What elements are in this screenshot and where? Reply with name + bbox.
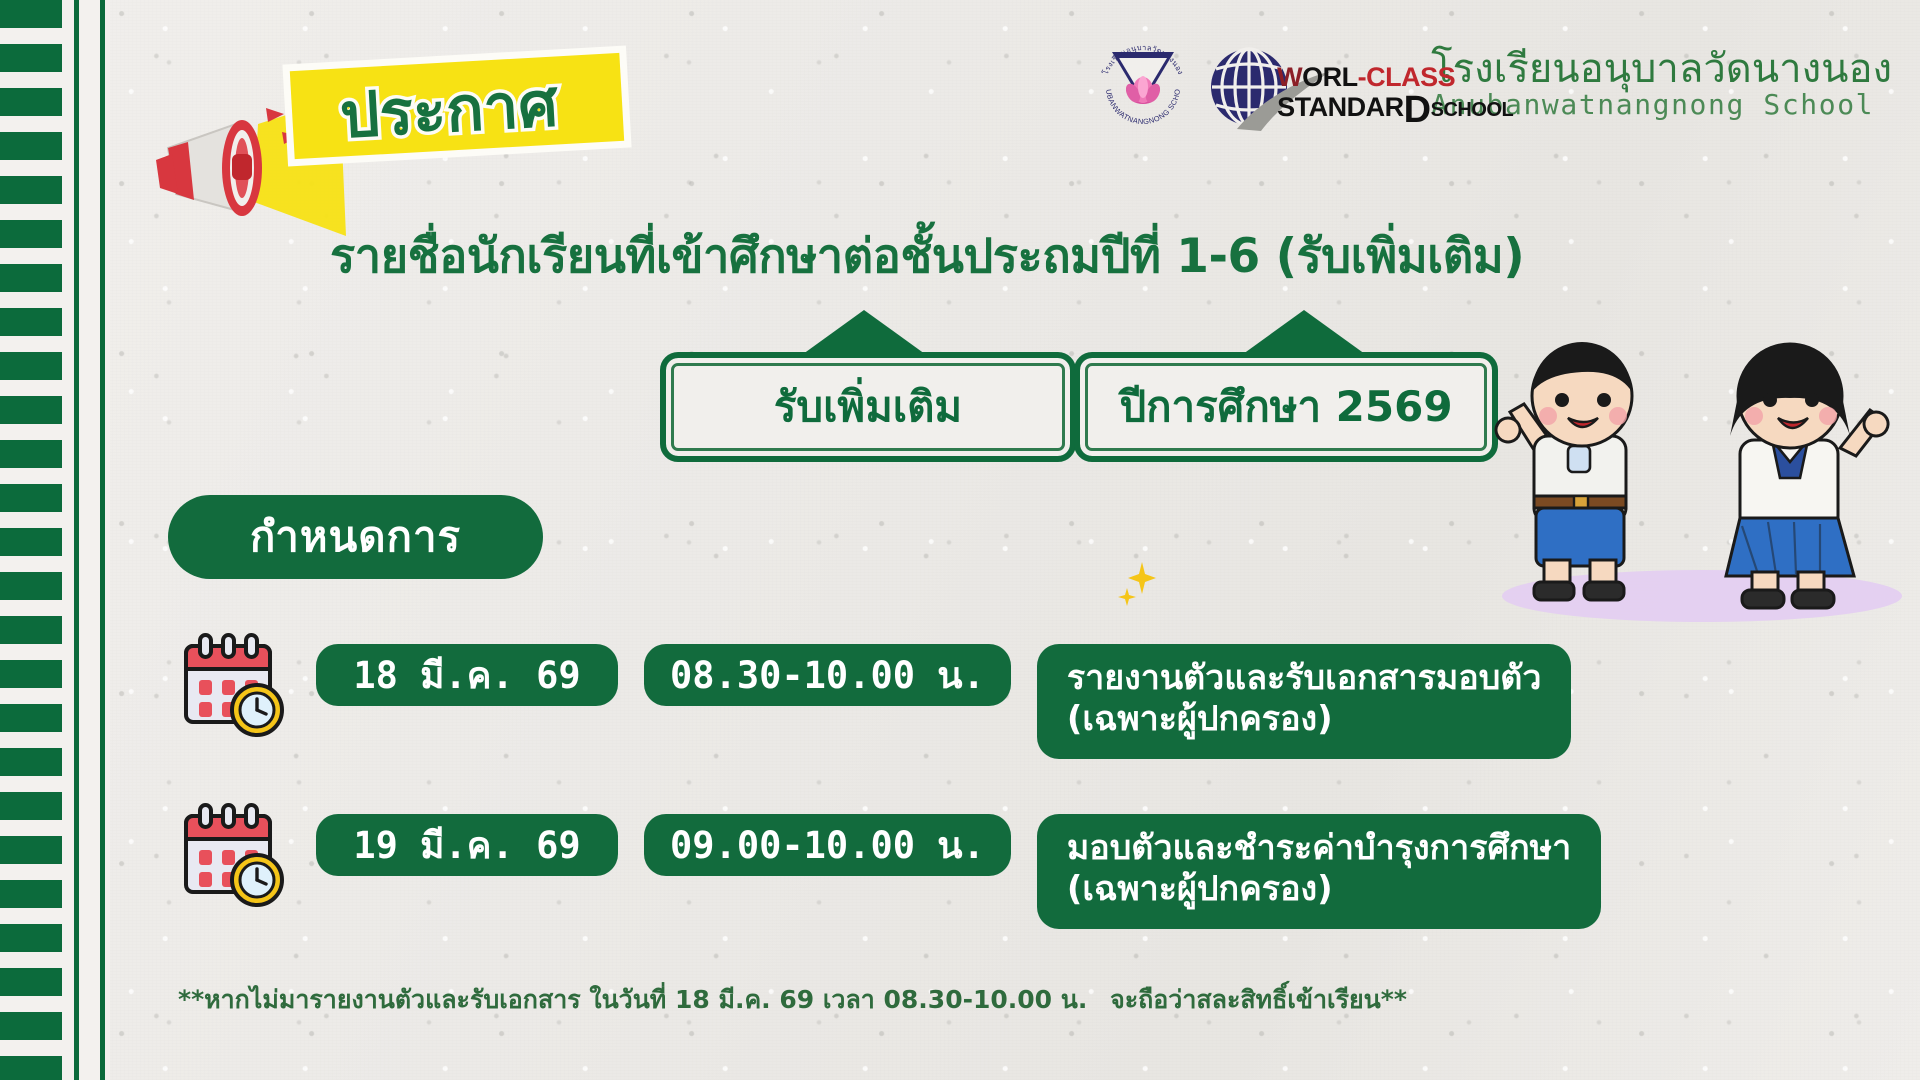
footnote-tail: จะถือว่าสละสิทธิ์เข้าเรียน**: [1110, 985, 1407, 1014]
wcs-wordmark: WORL-CLASS STANDARDSCHOOL: [1277, 65, 1513, 125]
schedule-row: 19 มี.ค. 69 09.00-10.00 น. มอบตัวและชำระ…: [178, 800, 1601, 929]
ribbon-rule-inner: [74, 0, 79, 1080]
schedule-description-line2: (เฉพาะผู้ปกครอง): [1067, 869, 1571, 910]
badge-extra-admission: รับเพิ่มเติม: [660, 352, 1076, 462]
svg-text:โรงเรียนอนุบาลวัดนางนอง: โรงเรียนอนุบาลวัดนางนอง: [1101, 43, 1186, 76]
wcs-school: SCHOOL: [1431, 99, 1514, 121]
poster-background: โรงเรียนอนุบาลวัดนางนอง ANUBANWATNANGNON…: [0, 0, 1920, 1080]
footnote: **หากไม่มารายงานตัวและรับเอกสาร ในวันที่…: [178, 980, 1407, 1020]
seal-circular-text: โรงเรียนอนุบาลวัดนางนอง ANUBANWATNANGNON…: [1097, 38, 1189, 130]
left-decorative-ribbon: [0, 0, 110, 1080]
schedule-row: 18 มี.ค. 69 08.30-10.00 น. รายงานตัวและร…: [178, 630, 1571, 759]
schedule-section-label: กำหนดการ: [250, 504, 461, 570]
schedule-date-pill: 19 มี.ค. 69: [316, 814, 618, 876]
footnote-main: **หากไม่มารายงานตัวและรับเอกสาร ในวันที่…: [178, 985, 1087, 1014]
ribbon-rule-outer: [100, 0, 105, 1080]
badge-extra-admission-label: รับเพิ่มเติม: [774, 374, 962, 440]
header-logos: โรงเรียนอนุบาลวัดนางนอง ANUBANWATNANGNON…: [1097, 38, 1892, 130]
calendar-clock-icon: [178, 630, 290, 742]
wcs-standar: STANDAR: [1277, 92, 1404, 122]
schedule-description-line1: รายงานตัวและรับเอกสารมอบตัว: [1067, 658, 1542, 699]
sparkle-icon: [1118, 560, 1158, 606]
world-class-standard-logo: WORL-CLASS STANDARDSCHOOL: [1207, 41, 1413, 127]
schedule-time-pill: 09.00-10.00 น.: [644, 814, 1011, 876]
page-title: รายชื่อนักเรียนที่เข้าศึกษาต่อชั้นประถมป…: [330, 218, 1524, 293]
schedule-time-pill: 08.30-10.00 น.: [644, 644, 1011, 706]
announcement-label: ประกาศ: [338, 67, 559, 152]
kids-illustration: [1490, 300, 1920, 630]
schedule-description: มอบตัวและชำระค่าบำรุงการศึกษา (เฉพาะผู้ป…: [1037, 814, 1601, 929]
schedule-description-line1: มอบตัวและชำระค่าบำรุงการศึกษา: [1067, 828, 1571, 869]
ribbon-stripes: [0, 0, 62, 1080]
badge-academic-year-label: ปีการศึกษา 2569: [1119, 374, 1452, 440]
girl-figure: [1726, 344, 1888, 608]
schedule-description-line2: (เฉพาะผู้ปกครอง): [1067, 699, 1542, 740]
schedule-section-pill: กำหนดการ: [168, 495, 543, 579]
boy-figure: [1496, 342, 1632, 600]
badge-academic-year: ปีการศึกษา 2569: [1074, 352, 1498, 462]
seal-text-th: โรงเรียนอนุบาลวัดนางนอง: [1101, 43, 1186, 76]
schedule-date-pill: 18 มี.ค. 69: [316, 644, 618, 706]
calendar-clock-icon: [178, 800, 290, 912]
wcs-bigd: D: [1404, 89, 1431, 131]
announcement-banner-text: ประกาศ: [338, 60, 642, 157]
school-seal-logo: โรงเรียนอนุบาลวัดนางนอง ANUBANWATNANGNON…: [1097, 38, 1189, 130]
schedule-description: รายงานตัวและรับเอกสารมอบตัว (เฉพาะผู้ปกค…: [1037, 644, 1572, 759]
